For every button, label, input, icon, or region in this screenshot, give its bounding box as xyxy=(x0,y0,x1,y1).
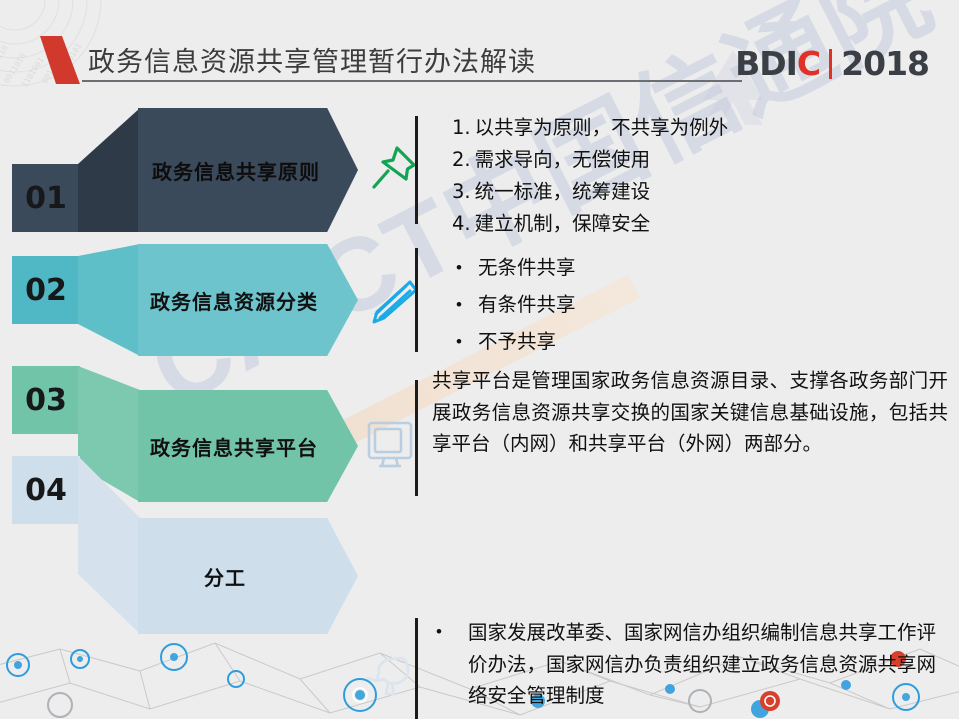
row-03: 03 政务信息共享平台 共享平台是管理国 xyxy=(0,366,959,506)
connector-04 xyxy=(78,456,140,634)
list-item: 4.建立机制，保障安全 xyxy=(452,208,948,240)
badge-01-number: 01 xyxy=(25,181,67,216)
connector-01 xyxy=(78,108,140,232)
list-item: 无条件共享 xyxy=(452,250,948,287)
divider-02 xyxy=(415,248,418,352)
paragraph-03: 共享平台是管理国家政务信息资源目录、支撑各政务部门开展政务信息资源共享交换的国家… xyxy=(432,366,948,461)
bdic-logo: BDIC 2018 xyxy=(735,44,929,83)
logo-bdic-text: BDIC xyxy=(735,44,820,83)
chevron-01-label: 政务信息共享原则 xyxy=(152,156,320,185)
bird-icon xyxy=(362,648,418,704)
badge-01[interactable]: 01 xyxy=(12,164,80,232)
content-rows: 01 政务信息共享原则 1.以共享为原则，不共享为例外 xyxy=(0,104,959,704)
row-02: 02 政务信息资源分类 无条件共享 有条件共享 xyxy=(0,244,959,366)
chevron-04[interactable]: 分工 xyxy=(138,518,358,634)
logo-c-accent: C xyxy=(797,44,820,83)
chevron-03[interactable]: 政务信息共享平台 xyxy=(138,390,358,502)
slide-header: 政务信息资源共享管理暂行办法解读 BDIC 2018 xyxy=(0,0,959,96)
chevron-04-label: 分工 xyxy=(204,562,246,591)
badge-03-number: 03 xyxy=(25,383,67,418)
pencil-icon xyxy=(366,272,422,328)
content-01: 1.以共享为原则，不共享为例外 2.需求导向，无偿使用 3.统一标准，统筹建设 … xyxy=(452,112,948,240)
red-wedge-icon xyxy=(38,36,82,88)
list-item: 1.以共享为原则，不共享为例外 xyxy=(452,112,948,144)
logo-divider xyxy=(829,49,832,79)
badge-02[interactable]: 02 xyxy=(12,256,80,324)
list-item: 有条件共享 xyxy=(452,287,948,324)
badge-02-number: 02 xyxy=(25,273,67,308)
row-01: 01 政务信息共享原则 1.以共享为原则，不共享为例外 xyxy=(0,104,959,244)
monitor-icon xyxy=(362,416,418,472)
row-04: 04 分工 国家发展改革委、国家网信办组织编 xyxy=(0,506,959,706)
page-title: 政务信息资源共享管理暂行办法解读 xyxy=(88,40,536,79)
bullet-list-04: 国家发展改革委、国家网信办组织编制信息共享工作评价办法，国家网信办负责组织建立政… xyxy=(432,618,948,719)
list-item: 2.需求导向，无偿使用 xyxy=(452,144,948,176)
logo-year: 2018 xyxy=(841,44,929,83)
content-03: 共享平台是管理国家政务信息资源目录、支撑各政务部门开展政务信息资源共享交换的国家… xyxy=(432,366,948,461)
list-item: 不予共享 xyxy=(452,324,948,361)
slide-canvas: 1001001 0100110 0011010 1101001 0010110 … xyxy=(0,0,959,719)
bullet-list-02: 无条件共享 有条件共享 不予共享 xyxy=(452,250,948,361)
divider-03 xyxy=(415,380,418,496)
list-item: 国家发展改革委、国家网信办组织编制信息共享工作评价办法，国家网信办负责组织建立政… xyxy=(432,618,948,713)
badge-03[interactable]: 03 xyxy=(12,366,80,434)
pushpin-icon xyxy=(366,140,422,196)
content-02: 无条件共享 有条件共享 不予共享 xyxy=(452,250,948,361)
content-04: 国家发展改革委、国家网信办组织编制信息共享工作评价办法，国家网信办负责组织建立政… xyxy=(432,618,948,719)
chevron-02[interactable]: 政务信息资源分类 xyxy=(138,244,358,356)
title-underline xyxy=(82,80,742,82)
connector-02 xyxy=(78,244,140,356)
chevron-01[interactable]: 政务信息共享原则 xyxy=(138,108,358,232)
list-item: 3.统一标准，统筹建设 xyxy=(452,176,948,208)
divider-01 xyxy=(415,116,418,224)
divider-04 xyxy=(415,618,418,719)
numbered-list-01: 1.以共享为原则，不共享为例外 2.需求导向，无偿使用 3.统一标准，统筹建设 … xyxy=(452,112,948,240)
badge-04-number: 04 xyxy=(25,473,67,508)
chevron-03-label: 政务信息共享平台 xyxy=(150,432,318,461)
chevron-02-label: 政务信息资源分类 xyxy=(150,286,318,315)
badge-04[interactable]: 04 xyxy=(12,456,80,524)
